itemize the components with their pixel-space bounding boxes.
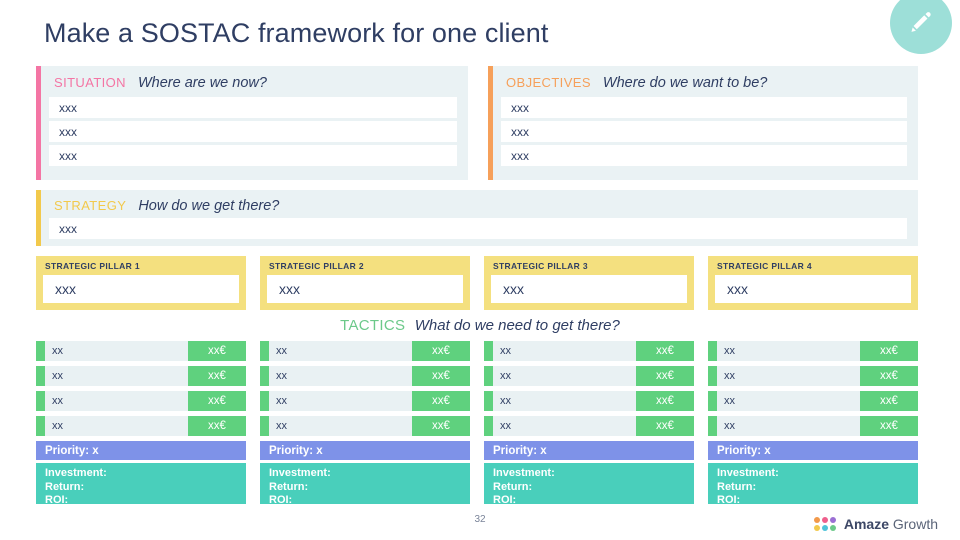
strategy-input-1[interactable]: xxx [49, 218, 907, 239]
tactic-cost[interactable]: xx€ [860, 366, 918, 386]
tactic-name[interactable]: xx [493, 391, 636, 411]
strategy-header: STRATEGY How do we get there? [36, 190, 918, 218]
tactic-row[interactable]: xx xx€ [708, 391, 918, 411]
tactics-question: What do we need to get there? [415, 317, 620, 334]
tactic-accent-bar [708, 391, 717, 411]
tactic-row[interactable]: xx xx€ [260, 366, 470, 386]
tactic-accent-bar [484, 391, 493, 411]
tactic-name[interactable]: xx [717, 341, 860, 361]
brand-dot [830, 517, 836, 523]
tactics-column-3: xx xx€ xx xx€ xx xx€ xx xx€ Priority: x … [484, 341, 694, 504]
investment-label: Investment: [493, 467, 694, 481]
tactic-row[interactable]: xx xx€ [484, 416, 694, 436]
tactic-cost[interactable]: xx€ [188, 366, 246, 386]
tactic-name[interactable]: xx [717, 416, 860, 436]
strategy-kicker: STRATEGY [54, 198, 126, 213]
tactic-cost[interactable]: xx€ [412, 341, 470, 361]
tactic-row[interactable]: xx xx€ [36, 391, 246, 411]
brand-name: Amaze Growth [844, 516, 938, 532]
tactic-accent-bar [36, 391, 45, 411]
tactic-cost[interactable]: xx€ [860, 341, 918, 361]
tactic-row[interactable]: xx xx€ [36, 416, 246, 436]
investment-label: Investment: [717, 467, 918, 481]
tactic-cost[interactable]: xx€ [636, 391, 694, 411]
tactic-row[interactable]: xx xx€ [484, 341, 694, 361]
return-label: Return: [45, 481, 246, 495]
tactic-row[interactable]: xx xx€ [36, 341, 246, 361]
brand-name-light: Growth [893, 516, 938, 532]
strategic-pillar-1-input[interactable]: xxx [43, 275, 239, 303]
brand-dot [814, 517, 820, 523]
brand-dot [814, 525, 820, 531]
tactic-name[interactable]: xx [45, 391, 188, 411]
tactic-name[interactable]: xx [717, 366, 860, 386]
objectives-input-1[interactable]: xxx [501, 97, 907, 118]
objectives-accent-bar [488, 66, 493, 180]
metrics-box: Investment: Return: ROI: [708, 463, 918, 504]
tactic-accent-bar [260, 341, 269, 361]
page-title: Make a SOSTAC framework for one client [44, 18, 548, 49]
tactic-accent-bar [260, 416, 269, 436]
priority-bar[interactable]: Priority: x [36, 441, 246, 460]
situation-header: SITUATION Where are we now? [36, 66, 468, 97]
tactic-row[interactable]: xx xx€ [708, 366, 918, 386]
strategic-pillar-2-label: STRATEGIC PILLAR 2 [267, 261, 463, 275]
tactic-cost[interactable]: xx€ [188, 391, 246, 411]
tactic-cost[interactable]: xx€ [636, 341, 694, 361]
priority-bar[interactable]: Priority: x [484, 441, 694, 460]
tactic-cost[interactable]: xx€ [636, 416, 694, 436]
amaze-dots-icon [814, 517, 836, 531]
strategic-pillar-1: STRATEGIC PILLAR 1 xxx [36, 256, 246, 310]
tactics-column-1: xx xx€ xx xx€ xx xx€ xx xx€ Priority: x … [36, 341, 246, 504]
tactic-row[interactable]: xx xx€ [260, 416, 470, 436]
tactic-accent-bar [260, 391, 269, 411]
strategic-pillars: STRATEGIC PILLAR 1 xxx STRATEGIC PILLAR … [36, 256, 918, 310]
situation-input-2[interactable]: xxx [49, 121, 457, 142]
strategic-pillar-3-label: STRATEGIC PILLAR 3 [491, 261, 687, 275]
tactic-row[interactable]: xx xx€ [260, 341, 470, 361]
situation-input-1[interactable]: xxx [49, 97, 457, 118]
strategic-pillar-2-input[interactable]: xxx [267, 275, 463, 303]
tactic-name[interactable]: xx [493, 341, 636, 361]
strategic-pillar-3: STRATEGIC PILLAR 3 xxx [484, 256, 694, 310]
situation-input-3[interactable]: xxx [49, 145, 457, 166]
tactic-name[interactable]: xx [269, 416, 412, 436]
tactic-name[interactable]: xx [717, 391, 860, 411]
tactic-accent-bar [484, 341, 493, 361]
pencil-badge [890, 0, 952, 54]
tactic-accent-bar [36, 416, 45, 436]
tactics-column-4: xx xx€ xx xx€ xx xx€ xx xx€ Priority: x … [708, 341, 918, 504]
strategic-pillar-4-input[interactable]: xxx [715, 275, 911, 303]
tactic-name[interactable]: xx [269, 341, 412, 361]
situation-kicker: SITUATION [54, 75, 126, 90]
tactic-accent-bar [708, 366, 717, 386]
tactic-cost[interactable]: xx€ [412, 391, 470, 411]
strategic-pillar-3-input[interactable]: xxx [491, 275, 687, 303]
situation-rows: xxx xxx xxx [36, 97, 468, 175]
tactic-cost[interactable]: xx€ [412, 416, 470, 436]
tactic-cost[interactable]: xx€ [636, 366, 694, 386]
strategy-accent-bar [36, 190, 41, 246]
roi-label: ROI: [269, 494, 470, 508]
tactic-cost[interactable]: xx€ [412, 366, 470, 386]
metrics-box: Investment: Return: ROI: [36, 463, 246, 504]
objectives-header: OBJECTIVES Where do we want to be? [488, 66, 918, 97]
tactic-accent-bar [36, 341, 45, 361]
tactic-name[interactable]: xx [269, 391, 412, 411]
strategy-question: How do we get there? [138, 198, 279, 214]
tactic-row[interactable]: xx xx€ [260, 391, 470, 411]
objectives-panel: OBJECTIVES Where do we want to be? xxx x… [488, 66, 918, 180]
tactic-cost[interactable]: xx€ [188, 416, 246, 436]
tactic-name[interactable]: xx [45, 416, 188, 436]
pencil-icon [908, 10, 934, 36]
roi-label: ROI: [45, 494, 246, 508]
tactic-row[interactable]: xx xx€ [484, 391, 694, 411]
strategic-pillar-1-label: STRATEGIC PILLAR 1 [43, 261, 239, 275]
tactics-kicker: TACTICS [340, 317, 405, 334]
strategic-pillar-4: STRATEGIC PILLAR 4 xxx [708, 256, 918, 310]
brand-dot [822, 525, 828, 531]
objectives-rows: xxx xxx xxx [488, 97, 918, 175]
tactic-name[interactable]: xx [45, 366, 188, 386]
objectives-question: Where do we want to be? [603, 75, 767, 91]
situation-accent-bar [36, 66, 41, 180]
tactic-name[interactable]: xx [493, 416, 636, 436]
roi-label: ROI: [717, 494, 918, 508]
objectives-kicker: OBJECTIVES [506, 75, 591, 90]
tactic-row[interactable]: xx xx€ [708, 341, 918, 361]
brand-name-bold: Amaze [844, 516, 889, 532]
situation-panel: SITUATION Where are we now? xxx xxx xxx [36, 66, 468, 180]
tactics-column-2: xx xx€ xx xx€ xx xx€ xx xx€ Priority: x … [260, 341, 470, 504]
tactics-header: TACTICS What do we need to get there? [0, 317, 960, 335]
tactic-cost[interactable]: xx€ [188, 341, 246, 361]
tactic-row[interactable]: xx xx€ [36, 366, 246, 386]
tactic-name[interactable]: xx [493, 366, 636, 386]
tactic-accent-bar [484, 366, 493, 386]
return-label: Return: [493, 481, 694, 495]
strategy-panel: STRATEGY How do we get there? xxx [36, 190, 918, 246]
tactic-name[interactable]: xx [269, 366, 412, 386]
tactic-cost[interactable]: xx€ [860, 391, 918, 411]
return-label: Return: [269, 481, 470, 495]
tactic-accent-bar [708, 416, 717, 436]
metrics-box: Investment: Return: ROI: [484, 463, 694, 504]
tactic-accent-bar [36, 366, 45, 386]
objectives-input-3[interactable]: xxx [501, 145, 907, 166]
investment-label: Investment: [45, 467, 246, 481]
tactic-row[interactable]: xx xx€ [708, 416, 918, 436]
situation-question: Where are we now? [138, 75, 267, 91]
brand-dot [822, 517, 828, 523]
investment-label: Investment: [269, 467, 470, 481]
return-label: Return: [717, 481, 918, 495]
brand-logo: Amaze Growth [814, 516, 938, 532]
brand-dot [830, 525, 836, 531]
tactics-grid: xx xx€ xx xx€ xx xx€ xx xx€ Priority: x … [36, 341, 918, 504]
tactic-accent-bar [708, 341, 717, 361]
strategy-rows: xxx [36, 218, 918, 248]
metrics-box: Investment: Return: ROI: [260, 463, 470, 504]
strategic-pillar-4-label: STRATEGIC PILLAR 4 [715, 261, 911, 275]
roi-label: ROI: [493, 494, 694, 508]
tactic-name[interactable]: xx [45, 341, 188, 361]
tactic-cost[interactable]: xx€ [860, 416, 918, 436]
tactic-accent-bar [260, 366, 269, 386]
objectives-input-2[interactable]: xxx [501, 121, 907, 142]
priority-bar[interactable]: Priority: x [708, 441, 918, 460]
tactic-accent-bar [484, 416, 493, 436]
strategic-pillar-2: STRATEGIC PILLAR 2 xxx [260, 256, 470, 310]
priority-bar[interactable]: Priority: x [260, 441, 470, 460]
tactic-row[interactable]: xx xx€ [484, 366, 694, 386]
